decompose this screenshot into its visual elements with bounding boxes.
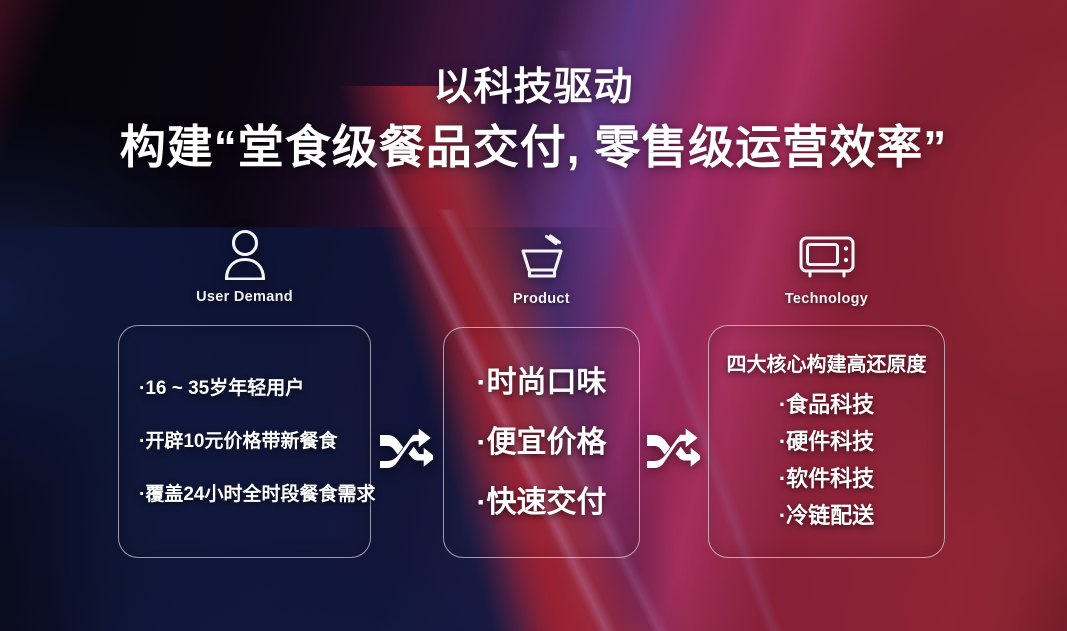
pillar-technology: Technology [708, 230, 945, 307]
list-item: ·快速交付 [444, 484, 639, 522]
headline-line-1: 以科技驱动 [0, 64, 1067, 112]
user-icon [118, 228, 371, 280]
list-item: ·食品科技 [709, 388, 944, 421]
pillar-product: Product [443, 230, 640, 307]
list-item: ·软件科技 [709, 462, 944, 495]
noodle-bowl-icon [443, 230, 640, 282]
pillar-user-demand: User Demand [118, 228, 371, 305]
headline-line-2: 构建“堂食级餐品交付, 零售级运营效率” [0, 116, 1067, 178]
card-product-list: ·时尚口味 ·便宜价格 ·快速交付 [444, 364, 639, 522]
pillars-row: User Demand ·16 ~ 35岁年轻用户 ·开辟10元价格带新餐食 ·… [0, 228, 1067, 568]
card-user-demand: ·16 ~ 35岁年轻用户 ·开辟10元价格带新餐食 ·覆盖24小时全时段餐食需… [118, 325, 371, 558]
list-item: ·冷链配送 [709, 499, 944, 532]
list-item: ·时尚口味 [444, 364, 639, 402]
pillar-label-product: Product [443, 291, 640, 307]
list-item: ·便宜价格 [444, 424, 639, 462]
pillar-header-product: Product [443, 230, 640, 307]
pillar-label-technology: Technology [708, 291, 945, 307]
card-user-demand-list: ·16 ~ 35岁年轻用户 ·开辟10元价格带新餐食 ·覆盖24小时全时段餐食需… [135, 375, 354, 509]
pillar-header-technology: Technology [708, 230, 945, 307]
card-technology-list: ·食品科技 ·硬件科技 ·软件科技 ·冷链配送 [709, 388, 944, 532]
pillar-label-user-demand: User Demand [118, 289, 371, 305]
pillar-header-user-demand: User Demand [118, 228, 371, 305]
shuffle-icon [644, 426, 700, 470]
list-item: ·16 ~ 35岁年轻用户 [135, 375, 354, 403]
card-technology: 四大核心构建高还原度 ·食品科技 ·硬件科技 ·软件科技 ·冷链配送 [708, 325, 945, 558]
list-item: ·开辟10元价格带新餐食 [135, 428, 354, 456]
list-item: ·硬件科技 [709, 425, 944, 458]
card-technology-heading: 四大核心构建高还原度 [709, 351, 944, 379]
card-product: ·时尚口味 ·便宜价格 ·快速交付 [443, 327, 640, 558]
microwave-icon [708, 230, 945, 282]
list-item: ·覆盖24小时全时段餐食需求 [135, 481, 354, 509]
shuffle-icon [377, 426, 433, 470]
headline-block: 以科技驱动 构建“堂食级餐品交付, 零售级运营效率” [0, 64, 1067, 178]
